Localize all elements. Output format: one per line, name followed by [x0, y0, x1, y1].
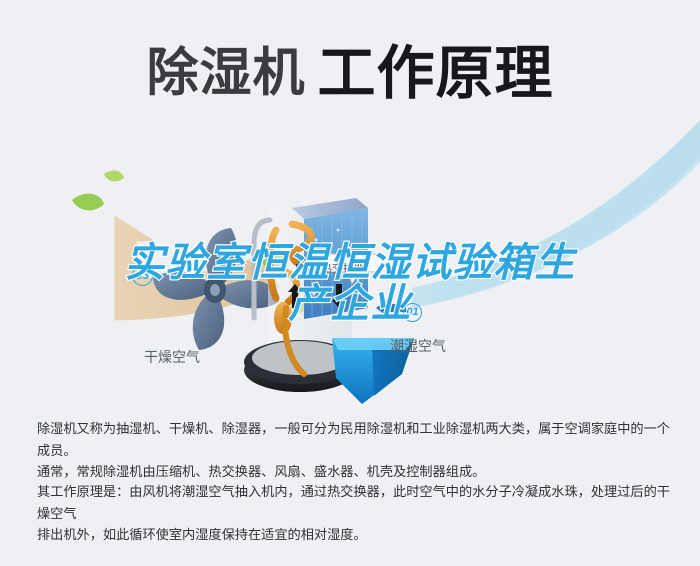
page-title: 除湿机工作原理 — [0, 26, 700, 110]
title-part-2: 工作原理 — [318, 41, 554, 106]
machine-body — [254, 198, 406, 356]
intake-arrow — [376, 299, 406, 317]
fan-blades — [153, 228, 279, 350]
title-part-1: 除湿机 — [146, 45, 305, 103]
badge-step-02-top: 02 — [296, 258, 315, 278]
body-paragraph-2: 其工作原理是：由风机将潮湿空气抽入机内，通过热交换器，此时空气中的水分子冷凝成水… — [37, 481, 671, 546]
badge-step-01-right: 01 — [403, 302, 422, 322]
paragraph-1-line-1: 除湿机又称为抽湿机、干燥机、除湿器，一般可分为民用除湿机和工业除湿机两大类，属于… — [37, 418, 671, 461]
paragraph-2-line-2: 排出机外，如此循环使室内湿度保持在适宜的相对湿度。 — [37, 524, 671, 546]
label-heat-exchanger: 热交换器 — [321, 260, 365, 276]
humid-air-swoosh-fill — [412, 120, 700, 308]
body-paragraph-1: 除湿机又称为抽湿机、干燥机、除湿器，一般可分为民用除湿机和工业除湿机两大类，属于… — [37, 418, 671, 483]
paragraph-1-line-2: 通常，常规除湿机由压缩机、热交换器、风扇、盛水器、机壳及控制器组成。 — [37, 461, 671, 483]
page-root: 除湿机工作原理 — [0, 0, 700, 566]
label-dry-air: 干燥空气 — [144, 347, 200, 367]
paragraph-2-line-1: 其工作原理是：由风机将潮湿空气抽入机内，通过热交换器，此时空气中的水分子冷凝成水… — [37, 481, 671, 524]
label-humid-air: 潮湿空气 — [390, 336, 446, 356]
dehumidifier-diagram: 干燥空气 潮湿空气 热交换器 水箱 03 02 01 潮湿空气经过蒸发器冷凝成水… — [0, 112, 700, 404]
diagram-svg — [0, 112, 700, 404]
badge-step-03-left: 03 — [132, 264, 153, 286]
